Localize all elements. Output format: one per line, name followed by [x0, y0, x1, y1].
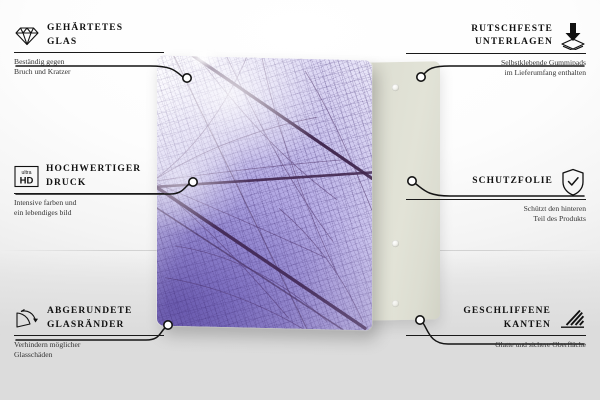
ultra-hd-icon: ultra HD — [14, 165, 39, 188]
feature-header: GESCHLIFFENE KANTEN — [406, 305, 586, 332]
rubber-pad — [392, 240, 399, 247]
diamond-icon — [14, 26, 40, 46]
feature-rule — [14, 335, 164, 336]
feature-header: GEHÄRTETES GLAS — [14, 22, 164, 49]
feature-title-line2: GLASRÄNDER — [47, 319, 132, 333]
feature-rule — [14, 52, 164, 53]
feature-header: ultra HD HOCHWERTIGER DRUCK — [14, 163, 164, 190]
feature-rule — [14, 193, 164, 194]
feature-title-line2: GLAS — [47, 36, 123, 50]
feature-rule — [406, 53, 586, 54]
feature-header: SCHUTZFOLIE — [406, 168, 586, 196]
feature-schutzfolie: SCHUTZFOLIE Schützt den hinteren Teil de… — [406, 168, 586, 225]
feature-desc-line1: Verhindern möglicher — [14, 340, 164, 351]
glass-specular-highlight — [186, 48, 220, 68]
arrow-down-pad-icon — [560, 22, 586, 50]
feature-rule — [406, 199, 586, 200]
hatched-edge-icon — [558, 306, 586, 331]
feature-desc-line1: Selbstklebende Gummipads — [406, 58, 586, 69]
feature-title-line1: RUTSCHFESTE — [471, 23, 553, 37]
feature-title-line1: GESCHLIFFENE — [463, 305, 551, 319]
feature-title-line2: DRUCK — [46, 177, 141, 191]
glass-gloss-overlay — [157, 56, 372, 331]
feature-desc-line2: Bruch und Kratzer — [14, 67, 164, 78]
feature-desc-line1: Schützt den hinteren — [406, 204, 586, 215]
feature-geschliffene-kanten: GESCHLIFFENE KANTEN Glatte und sichere O… — [406, 305, 586, 350]
rounded-corner-icon — [14, 308, 40, 330]
shield-check-icon — [560, 168, 586, 196]
feature-hochwertiger-druck: ultra HD HOCHWERTIGER DRUCK Intensive fa… — [14, 163, 164, 219]
feature-desc-line1: Beständig gegen — [14, 57, 164, 68]
feature-rutschfeste-unterlagen: RUTSCHFESTE UNTERLAGEN Selbstklebende Gu… — [406, 22, 586, 79]
feature-title-line1: ABGERUNDETE — [47, 305, 132, 319]
feature-title-line1: SCHUTZFOLIE — [472, 175, 553, 189]
product-front-panel — [157, 56, 372, 331]
rubber-pad — [392, 300, 399, 307]
feature-desc-line2: Glasschäden — [14, 350, 164, 361]
feature-title-line2: KANTEN — [463, 319, 551, 333]
feature-title-line2: UNTERLAGEN — [471, 36, 553, 50]
feature-title-line1: HOCHWERTIGER — [46, 163, 141, 177]
feature-header: RUTSCHFESTE UNTERLAGEN — [406, 22, 586, 50]
feature-desc-line2: Teil des Produkts — [406, 214, 586, 225]
rubber-pad — [392, 84, 399, 91]
feature-desc-line2: ein lebendiges bild — [14, 208, 164, 219]
feature-header: ABGERUNDETE GLASRÄNDER — [14, 305, 164, 332]
ultra-hd-bottom-label: HD — [20, 176, 34, 187]
feature-title-line1: GEHÄRTETES — [47, 22, 123, 36]
feature-desc-line2: im Lieferumfang enthalten — [406, 68, 586, 79]
feature-abgerundete-glasraender: ABGERUNDETE GLASRÄNDER Verhindern möglic… — [14, 305, 164, 361]
feature-desc-line1: Glatte und sichere Oberfläche — [406, 340, 586, 351]
feature-gehaertetes-glas: GEHÄRTETES GLAS Beständig gegen Bruch un… — [14, 22, 164, 78]
feature-desc-line1: Intensive farben und — [14, 198, 164, 209]
feature-rule — [406, 335, 586, 336]
